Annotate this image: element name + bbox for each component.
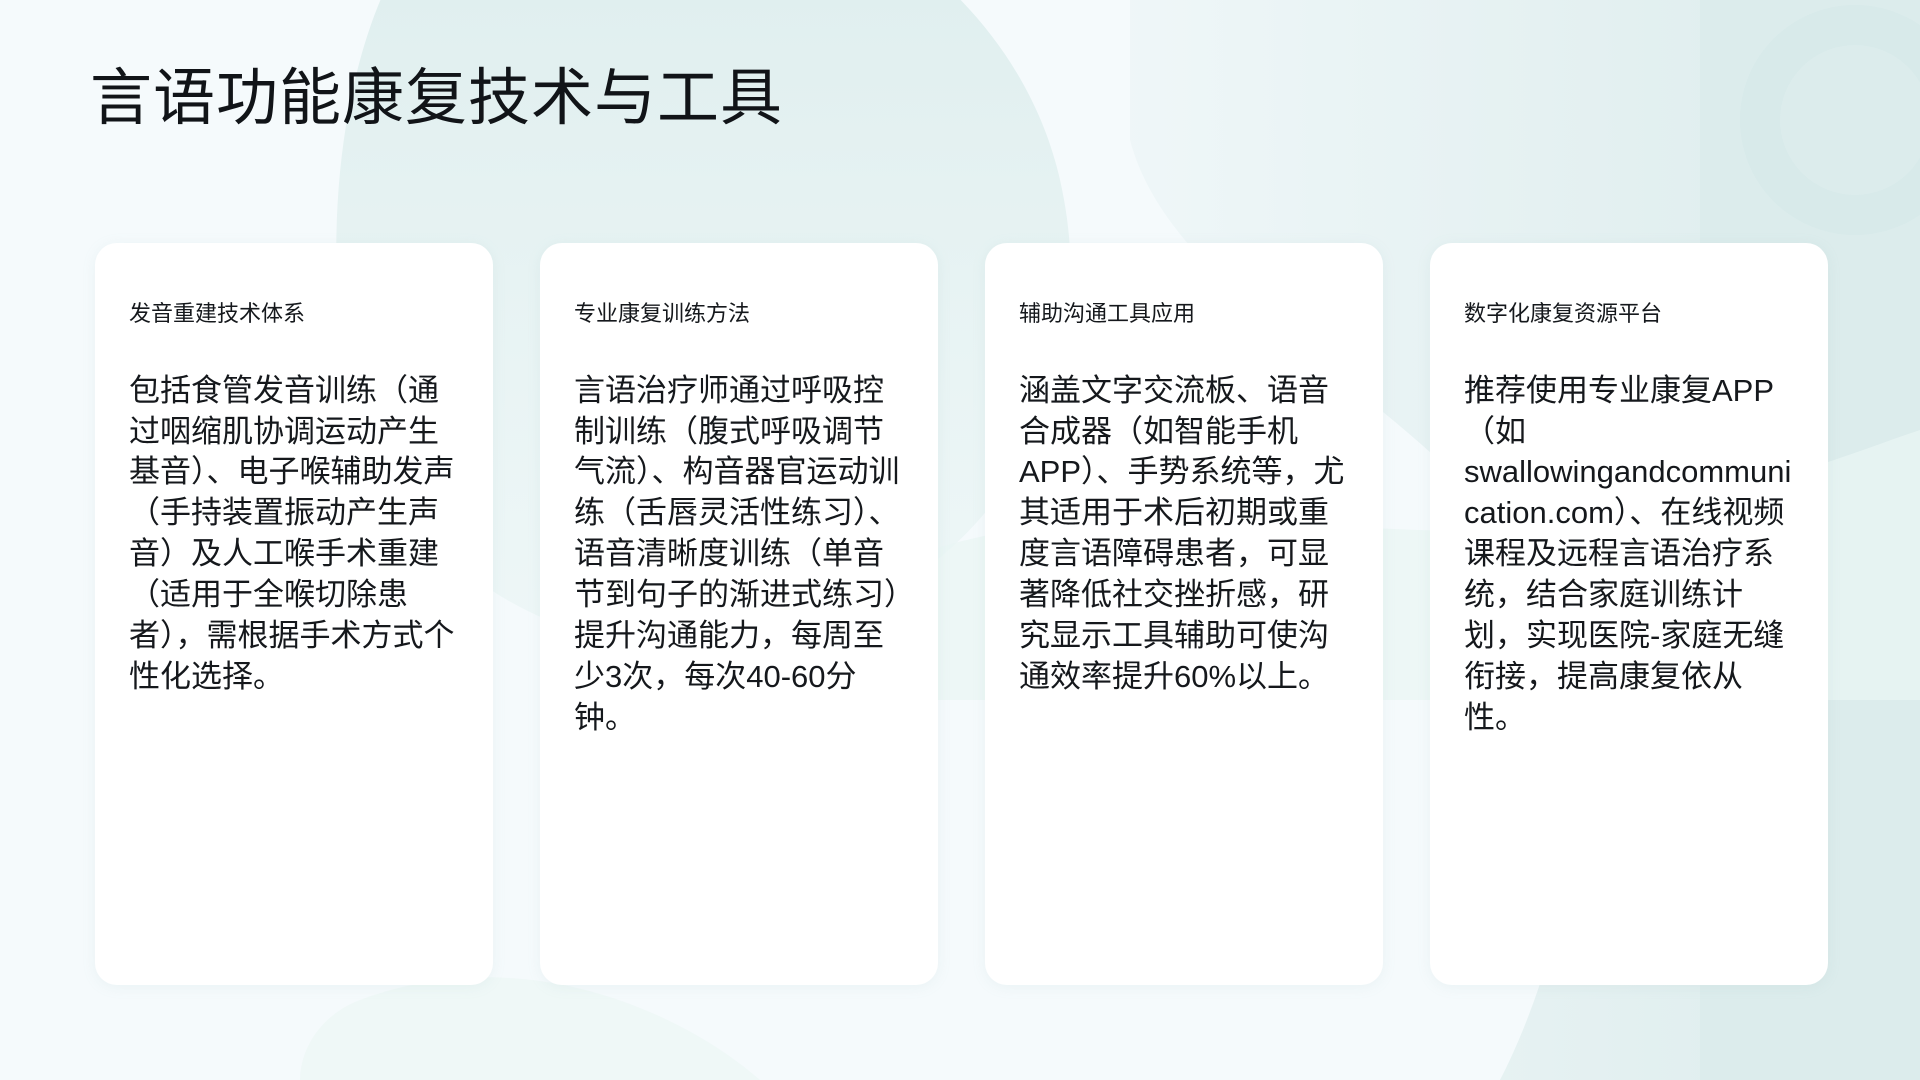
page-title: 言语功能康复技术与工具: [90, 62, 783, 136]
card-body: 包括食管发音训练（通过咽缩肌协调运动产生基音）、电子喉辅助发声（手持装置振动产生…: [129, 371, 459, 698]
card-title: 专业康复训练方法: [574, 300, 904, 329]
card-title: 发音重建技术体系: [129, 300, 459, 329]
card-row: 发音重建技术体系 包括食管发音训练（通过咽缩肌协调运动产生基音）、电子喉辅助发声…: [95, 243, 1920, 985]
bottom-blob: [300, 977, 760, 1080]
card-title: 数字化康复资源平台: [1464, 300, 1794, 329]
decorative-ring: [1760, 25, 1920, 215]
card-body: 言语治疗师通过呼吸控制训练（腹式呼吸调节气流）、构音器官运动训练（舌唇灵活性练习…: [574, 371, 904, 739]
card-body: 推荐使用专业康复APP（如swallowingandcommunication.…: [1464, 371, 1794, 739]
card-body: 涵盖文字交流板、语音合成器（如智能手机APP）、手势系统等，尤其适用于术后初期或…: [1019, 371, 1349, 698]
card-digital-resource-platform[interactable]: 数字化康复资源平台 推荐使用专业康复APP（如swallowingandcomm…: [1430, 243, 1828, 985]
card-assistive-communication-tools[interactable]: 辅助沟通工具应用 涵盖文字交流板、语音合成器（如智能手机APP）、手势系统等，尤…: [985, 243, 1383, 985]
card-title: 辅助沟通工具应用: [1019, 300, 1349, 329]
card-pronunciation-reconstruction[interactable]: 发音重建技术体系 包括食管发音训练（通过咽缩肌协调运动产生基音）、电子喉辅助发声…: [95, 243, 493, 985]
card-rehabilitation-training[interactable]: 专业康复训练方法 言语治疗师通过呼吸控制训练（腹式呼吸调节气流）、构音器官运动训…: [540, 243, 938, 985]
